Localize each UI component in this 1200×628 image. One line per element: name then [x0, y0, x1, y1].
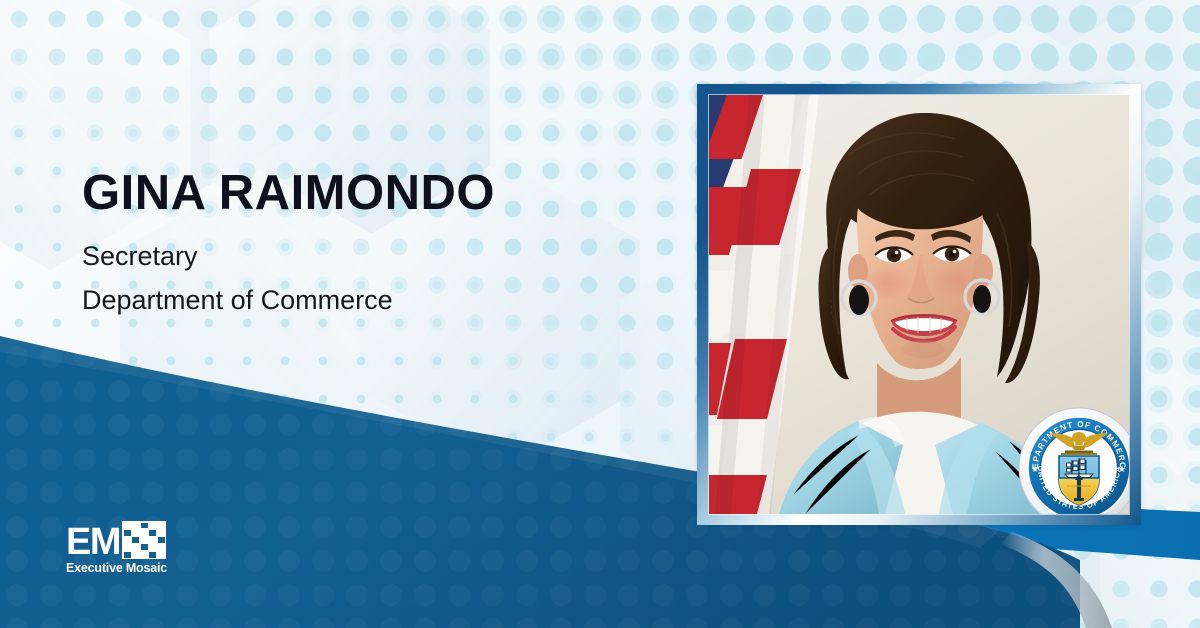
executive-mosaic-leadership-banner: GINA RAIMONDO Secretary Department of Co… — [0, 0, 1200, 628]
logo-letters: EM — [66, 526, 120, 559]
page-title: GINA RAIMONDO — [82, 168, 495, 219]
person-title: Secretary — [82, 237, 495, 275]
svg-text:★: ★ — [1118, 464, 1126, 474]
portrait-frame: DEPARTMENT OF COMMERCE UNITED STATES OF … — [697, 84, 1141, 525]
executive-mosaic-logo[interactable]: EM Executive Mosaic — [66, 519, 170, 575]
mosaic-grid-icon — [122, 521, 166, 559]
department-of-commerce-seal: DEPARTMENT OF COMMERCE UNITED STATES OF … — [1017, 406, 1129, 514]
person-text-block: GINA RAIMONDO Secretary Department of Co… — [82, 168, 495, 320]
portrait-photo: DEPARTMENT OF COMMERCE UNITED STATES OF … — [709, 95, 1129, 514]
logo-wordmark: Executive Mosaic — [66, 561, 170, 575]
logo-mark-row: EM — [66, 519, 170, 559]
person-organization: Department of Commerce — [82, 281, 495, 319]
svg-text:★: ★ — [1031, 464, 1039, 474]
